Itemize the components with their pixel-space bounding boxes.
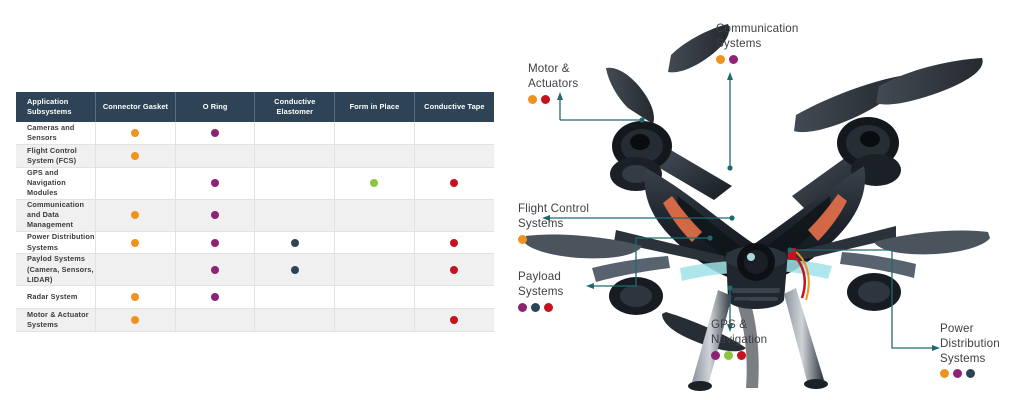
callout-dots-gps-navigation (711, 351, 767, 360)
dot-slate (291, 239, 299, 247)
dot-orange (131, 316, 139, 324)
dot-purple (211, 293, 219, 301)
callout-label-gps-navigation: GPS & Navigation (711, 318, 767, 348)
column-header-conductive-elastomer: Conductive Elastomer (255, 92, 335, 122)
dot-slate (966, 369, 975, 378)
row-label-subsystem: Cameras and Sensors (16, 122, 96, 145)
cell-empty (414, 286, 494, 309)
cell-empty (335, 254, 415, 286)
table-body: Cameras and SensorsFlight Control System… (16, 122, 494, 331)
dot-orange (518, 235, 527, 244)
cell-marked (335, 167, 415, 199)
row-label-subsystem: Power Distribution Systems (16, 231, 96, 254)
table-row: Communication and DataManagement (16, 199, 494, 231)
callout-motor-actuators[interactable]: Motor & Actuators (528, 62, 578, 104)
cell-empty (255, 199, 335, 231)
dot-purple (211, 266, 219, 274)
callout-dots-payload-systems (518, 303, 564, 312)
column-header-form-in-place: Form in Place (335, 92, 415, 122)
callout-dots-flight-control-systems (518, 235, 589, 244)
callout-label-flight-control-systems: Flight Control Systems (518, 202, 589, 232)
callout-label-motor-actuators: Motor & Actuators (528, 62, 578, 92)
table-row: Power Distribution Systems (16, 231, 494, 254)
table-row: Motor & Actuator Systems (16, 309, 494, 332)
dot-red (450, 266, 458, 274)
cell-marked (96, 145, 176, 168)
dot-orange (131, 211, 139, 219)
dot-purple (211, 211, 219, 219)
table-row: Paylod Systems(Camera, Sensors, LIDAR) (16, 254, 494, 286)
cell-empty (414, 122, 494, 145)
dot-purple (711, 351, 720, 360)
dot-orange (940, 369, 949, 378)
dot-red (450, 179, 458, 187)
dot-purple (953, 369, 962, 378)
cell-empty (255, 122, 335, 145)
row-label-subsystem: Communication and DataManagement (16, 199, 96, 231)
table-row: GPS and Navigation Modules (16, 167, 494, 199)
cell-empty (175, 309, 255, 332)
cell-empty (255, 309, 335, 332)
callout-gps-navigation[interactable]: GPS & Navigation (711, 318, 767, 360)
cell-marked (414, 309, 494, 332)
column-header-connector-gasket: Connector Gasket (96, 92, 176, 122)
cell-empty (335, 122, 415, 145)
column-header-conductive-tape: Conductive Tape (414, 92, 494, 122)
callout-dots-communication-systems (716, 55, 799, 64)
cell-marked (96, 286, 176, 309)
cell-marked (175, 254, 255, 286)
row-label-subsystem: Motor & Actuator Systems (16, 309, 96, 332)
dot-red (737, 351, 746, 360)
dot-purple (211, 239, 219, 247)
dot-red (541, 95, 550, 104)
dot-purple (729, 55, 738, 64)
cell-empty (255, 286, 335, 309)
cell-empty (414, 145, 494, 168)
cell-marked (255, 231, 335, 254)
dot-purple (211, 129, 219, 137)
dot-slate (291, 266, 299, 274)
table-row: Flight Control System (FCS) (16, 145, 494, 168)
cell-empty (335, 309, 415, 332)
row-label-subsystem: Flight Control System (FCS) (16, 145, 96, 168)
row-label-subsystem: GPS and Navigation Modules (16, 167, 96, 199)
page-root: Application Subsystems Connector Gasket … (0, 0, 1024, 400)
cell-marked (96, 122, 176, 145)
cell-marked (175, 286, 255, 309)
cell-empty (335, 145, 415, 168)
cell-marked (96, 231, 176, 254)
subsystem-sealing-matrix-table: Application Subsystems Connector Gasket … (16, 92, 494, 332)
callout-dots-power-distribution-systems (940, 369, 1000, 378)
row-label-subsystem: Paylod Systems(Camera, Sensors, LIDAR) (16, 254, 96, 286)
cell-empty (414, 199, 494, 231)
dot-red (450, 316, 458, 324)
row-label-subsystem: Radar System (16, 286, 96, 309)
callout-label-payload-systems: Payload Systems (518, 270, 564, 300)
cell-empty (255, 167, 335, 199)
dot-green (724, 351, 733, 360)
dot-red (450, 239, 458, 247)
dot-orange (528, 95, 537, 104)
table-row: Cameras and Sensors (16, 122, 494, 145)
cell-marked (175, 167, 255, 199)
cell-empty (96, 254, 176, 286)
cell-marked (414, 254, 494, 286)
cell-empty (255, 145, 335, 168)
table-row: Radar System (16, 286, 494, 309)
dot-orange (131, 152, 139, 160)
drone-subsystem-diagram: Motor & Actuators Communication Systems … (496, 0, 1024, 400)
cell-empty (335, 231, 415, 254)
column-header-application-subsystems: Application Subsystems (16, 92, 96, 122)
cell-empty (175, 145, 255, 168)
dot-green (370, 179, 378, 187)
callout-label-communication-systems: Communication Systems (716, 22, 799, 52)
dot-orange (716, 55, 725, 64)
cell-marked (414, 231, 494, 254)
cell-empty (96, 167, 176, 199)
table-header: Application Subsystems Connector Gasket … (16, 92, 494, 122)
leader-line-payload (592, 238, 710, 286)
cell-empty (335, 286, 415, 309)
dot-red (544, 303, 553, 312)
callout-label-power-distribution-systems: Power Distribution Systems (940, 322, 1000, 366)
dot-orange (131, 129, 139, 137)
cell-marked (255, 254, 335, 286)
cell-marked (414, 167, 494, 199)
callout-power-distribution-systems[interactable]: Power Distribution Systems (940, 322, 1000, 378)
column-header-o-ring: O Ring (175, 92, 255, 122)
callout-communication-systems[interactable]: Communication Systems (716, 22, 799, 64)
callout-payload-systems[interactable]: Payload Systems (518, 270, 564, 312)
cell-marked (175, 199, 255, 231)
cell-marked (96, 199, 176, 231)
leader-line-power (790, 250, 934, 348)
cell-marked (175, 231, 255, 254)
callout-flight-control-systems[interactable]: Flight Control Systems (518, 202, 589, 244)
cell-marked (175, 122, 255, 145)
table-header-row: Application Subsystems Connector Gasket … (16, 92, 494, 122)
dot-orange (131, 293, 139, 301)
cell-empty (335, 199, 415, 231)
dot-purple (211, 179, 219, 187)
callout-dots-motor-actuators (528, 95, 578, 104)
dot-slate (531, 303, 540, 312)
dot-orange (131, 239, 139, 247)
cell-marked (96, 309, 176, 332)
dot-purple (518, 303, 527, 312)
